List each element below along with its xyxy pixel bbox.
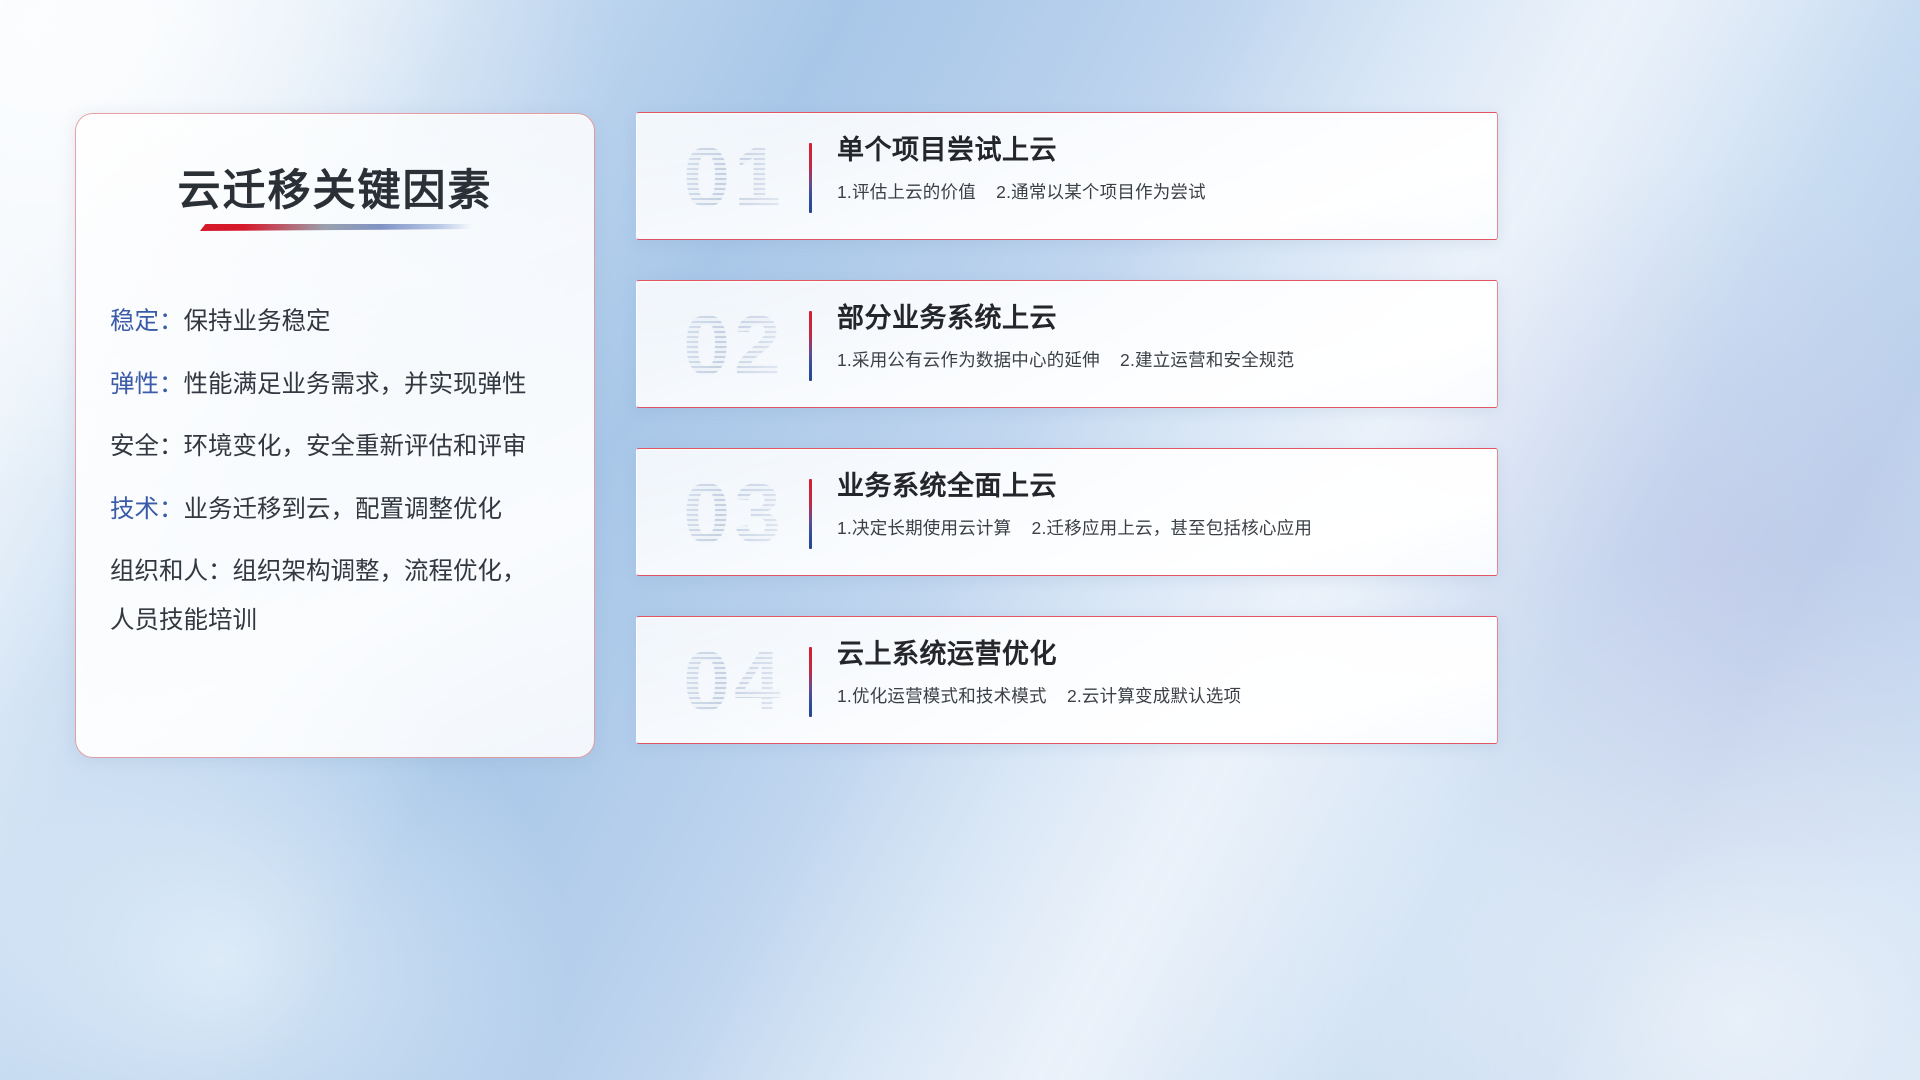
key-factor-label: 稳定： xyxy=(110,308,184,335)
step-divider-bar xyxy=(809,143,812,213)
migration-step-card[interactable]: 02部分业务系统上云1.采用公有云作为数据中心的延伸 2.建立运营和安全规范 xyxy=(636,280,1498,408)
step-number-text: 01 xyxy=(683,129,784,226)
migration-step-card[interactable]: 03业务系统全面上云1.决定长期使用云计算 2.迁移应用上云，甚至包括核心应用 xyxy=(636,448,1498,576)
slide-stage: 云迁移关键因素 稳定：保持业务稳定弹性：性能满足业务需求，并实现弹性安全：环境变… xyxy=(0,0,1920,1080)
title-underline-rule xyxy=(200,224,472,231)
step-subtitle: 1.评估上云的价值 2.通常以某个项目作为尝试 xyxy=(837,179,1473,204)
migration-steps-list: 01单个项目尝试上云1.评估上云的价值 2.通常以某个项目作为尝试02部分业务系… xyxy=(636,112,1498,744)
step-number-text: 04 xyxy=(683,633,784,730)
key-factor-label: 组织和人： xyxy=(110,558,233,585)
key-factor-label: 技术： xyxy=(110,496,184,523)
step-title: 业务系统全面上云 xyxy=(837,471,1473,502)
key-factor-text: 环境变化，安全重新评估和评审 xyxy=(184,433,527,460)
key-factor-item: 安全：环境变化，安全重新评估和评审 xyxy=(110,435,572,460)
key-factor-text: 组织架构调整，流程优化， xyxy=(233,558,527,585)
key-factor-label: 弹性： xyxy=(110,371,184,398)
key-factor-item: 人员技能培训 xyxy=(110,609,572,634)
step-title: 部分业务系统上云 xyxy=(837,303,1473,334)
key-factor-item: 弹性：性能满足业务需求，并实现弹性 xyxy=(110,373,572,398)
key-factor-text: 人员技能培训 xyxy=(110,607,257,634)
step-body: 业务系统全面上云1.决定长期使用云计算 2.迁移应用上云，甚至包括核心应用 xyxy=(837,471,1473,540)
step-subtitle: 1.决定长期使用云计算 2.迁移应用上云，甚至包括核心应用 xyxy=(837,515,1473,540)
key-factor-item: 技术：业务迁移到云，配置调整优化 xyxy=(110,498,572,523)
migration-step-card[interactable]: 01单个项目尝试上云1.评估上云的价值 2.通常以某个项目作为尝试 xyxy=(636,112,1498,240)
key-factor-text: 业务迁移到云，配置调整优化 xyxy=(184,496,503,523)
step-number-watermark: 01 xyxy=(659,123,809,231)
key-factors-list: 稳定：保持业务稳定弹性：性能满足业务需求，并实现弹性安全：环境变化，安全重新评估… xyxy=(110,310,572,633)
page-title: 云迁移关键因素 xyxy=(76,156,594,218)
step-divider-bar xyxy=(809,647,812,717)
step-title: 单个项目尝试上云 xyxy=(837,135,1473,166)
step-number-watermark: 04 xyxy=(659,627,809,735)
step-number-watermark: 03 xyxy=(659,459,809,567)
key-factor-text: 保持业务稳定 xyxy=(184,308,331,335)
step-subtitle: 1.优化运营模式和技术模式 2.云计算变成默认选项 xyxy=(837,683,1473,708)
step-body: 部分业务系统上云1.采用公有云作为数据中心的延伸 2.建立运营和安全规范 xyxy=(837,303,1473,372)
key-factor-text: 性能满足业务需求，并实现弹性 xyxy=(184,371,527,398)
key-factors-panel: 云迁移关键因素 稳定：保持业务稳定弹性：性能满足业务需求，并实现弹性安全：环境变… xyxy=(75,113,595,758)
step-number-text: 03 xyxy=(683,465,784,562)
key-factor-label: 安全： xyxy=(110,433,184,460)
key-factor-item: 组织和人：组织架构调整，流程优化， xyxy=(110,560,572,585)
step-body: 云上系统运营优化1.优化运营模式和技术模式 2.云计算变成默认选项 xyxy=(837,639,1473,708)
step-title: 云上系统运营优化 xyxy=(837,639,1473,670)
step-number-watermark: 02 xyxy=(659,291,809,399)
step-number-text: 02 xyxy=(683,297,784,394)
migration-step-card[interactable]: 04云上系统运营优化1.优化运营模式和技术模式 2.云计算变成默认选项 xyxy=(636,616,1498,744)
step-body: 单个项目尝试上云1.评估上云的价值 2.通常以某个项目作为尝试 xyxy=(837,135,1473,204)
step-divider-bar xyxy=(809,311,812,381)
key-factor-item: 稳定：保持业务稳定 xyxy=(110,310,572,335)
step-divider-bar xyxy=(809,479,812,549)
step-subtitle: 1.采用公有云作为数据中心的延伸 2.建立运营和安全规范 xyxy=(837,347,1473,372)
